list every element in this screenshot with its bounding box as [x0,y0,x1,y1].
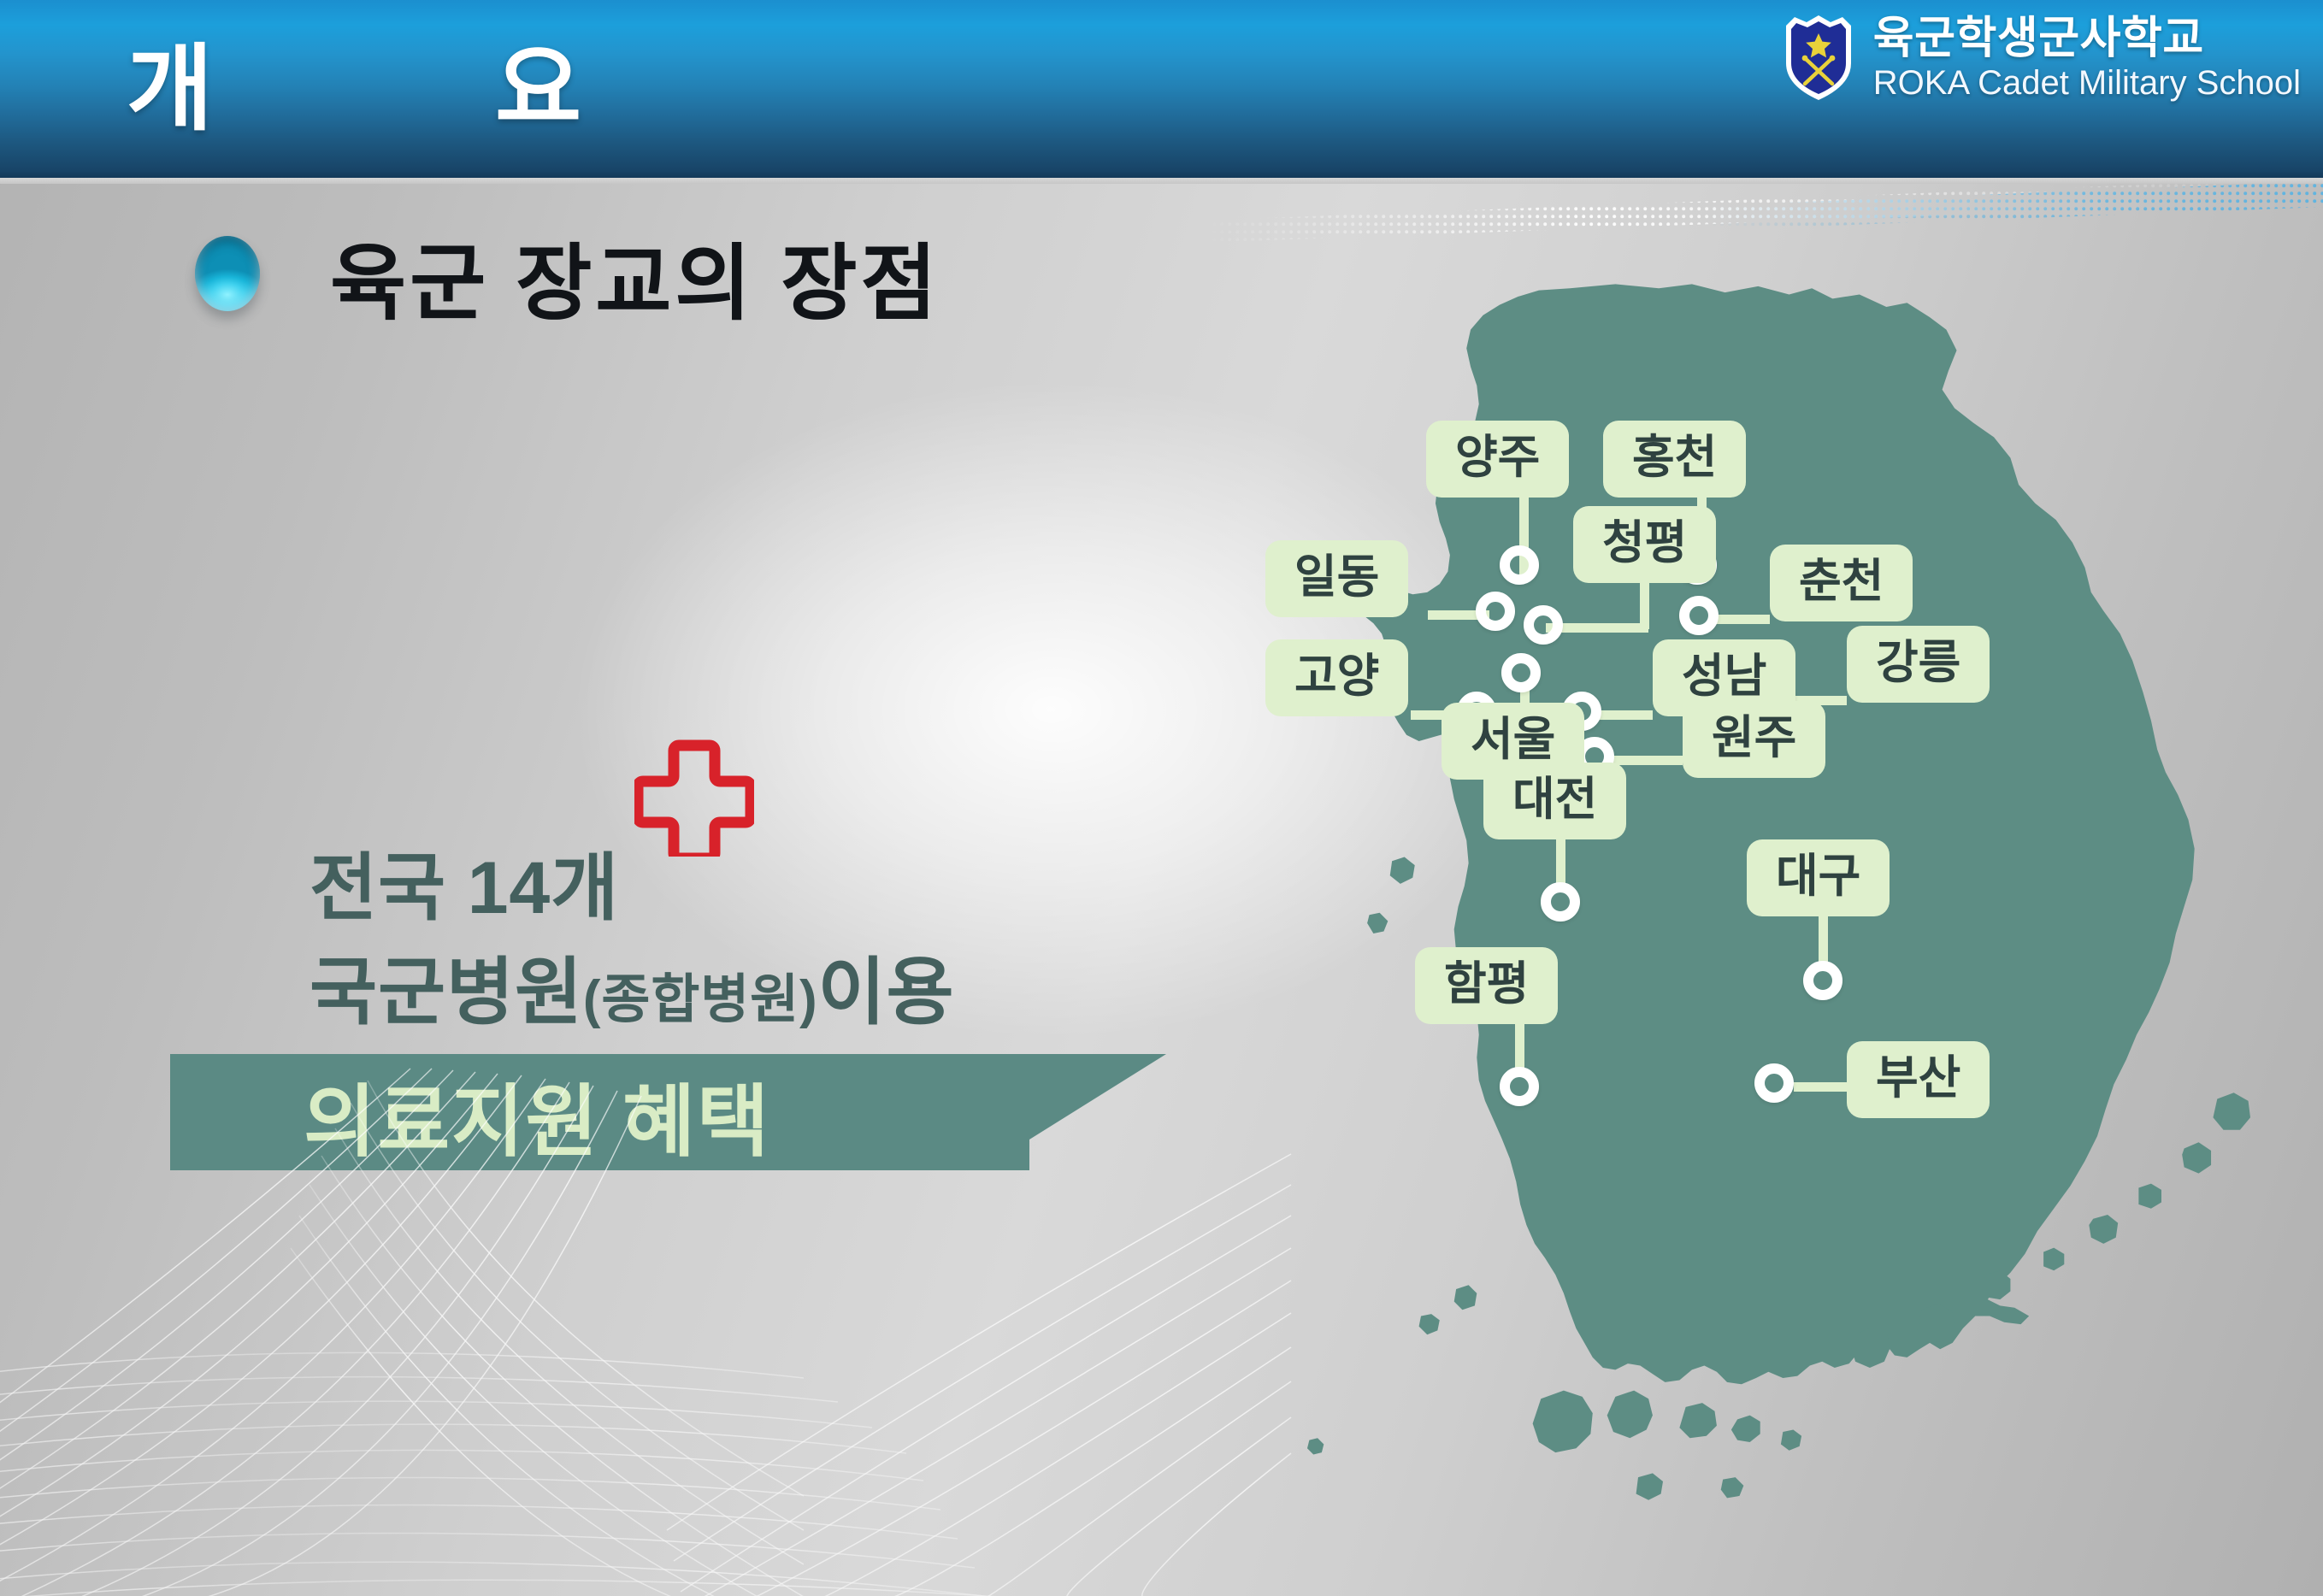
korea-hospital-map: 양주 홍천 청평 일동 춘천 강릉 고양 성남 서울 원주 대전 대구 함평 부… [1274,282,2308,1590]
connector-wonju [1613,756,1683,765]
map-label-gangneung[interactable]: 강릉 [1847,626,1990,703]
map-pin-yangju[interactable] [1500,545,1539,585]
map-label-goyang[interactable]: 고양 [1265,639,1408,716]
page-title: 개 요 [127,12,583,149]
medical-cross-icon [634,737,754,857]
map-pin-busan[interactable] [1754,1063,1794,1103]
brand-name-english: ROKA Cadet Military School [1873,66,2301,100]
connector-busan [1794,1082,1847,1092]
map-pin-ildong[interactable] [1476,592,1515,631]
map-label-daegu[interactable]: 대구 [1747,839,1890,916]
map-pin-daejeon[interactable] [1541,882,1580,922]
brand-text: 육군학생군사학교 ROKA Cadet Military School [1873,16,2301,100]
map-pin-seoul[interactable] [1501,653,1541,692]
section-heading: 육군 장교의 장점 [330,215,940,336]
map-pin-chuncheon[interactable] [1679,596,1719,635]
map-label-busan[interactable]: 부산 [1847,1041,1990,1118]
presentation-slide: 개 요 육군학생군사학교 ROKA Cadet Military School [0,0,2323,1596]
map-label-hongcheon[interactable]: 홍천 [1603,421,1746,498]
benefit-hospital-paren: (종합병원) [583,970,818,1029]
shield-star-crossed-swords-icon [1783,14,1854,103]
header-underline [0,178,2323,184]
decorative-dot-band [1197,176,2323,287]
ribbon-label: 의료지원 혜택 [304,1058,770,1172]
map-label-cheongpyeong[interactable]: 청평 [1573,506,1716,583]
map-label-hampyeong[interactable]: 함평 [1415,947,1558,1024]
connector-chuncheon [1715,615,1770,624]
connector-seongnam [1600,710,1653,720]
school-brand: 육군학생군사학교 ROKA Cadet Military School [1783,14,2301,103]
map-pin-daegu[interactable] [1803,961,1842,1000]
benefit-line-1: 전국 14개 [310,827,619,934]
map-pin-hampyeong[interactable] [1500,1067,1539,1106]
benefit-line-2: 국군병원(종합병원)이용 [310,932,955,1039]
map-pin-cheongpyeong[interactable] [1524,605,1563,645]
map-label-yangju[interactable]: 양주 [1426,421,1569,498]
map-label-wonju[interactable]: 원주 [1683,701,1825,778]
map-label-ildong[interactable]: 일동 [1265,540,1408,617]
map-label-chuncheon[interactable]: 춘천 [1770,545,1913,621]
benefit-hospital-label: 국군병원 [310,951,583,1034]
map-label-daejeon[interactable]: 대전 [1483,763,1626,839]
glossy-sphere-bullet-icon [195,236,260,311]
brand-name-korean: 육군학생군사학교 [1873,16,2301,61]
benefit-hospital-tail: 이용 [818,951,955,1034]
